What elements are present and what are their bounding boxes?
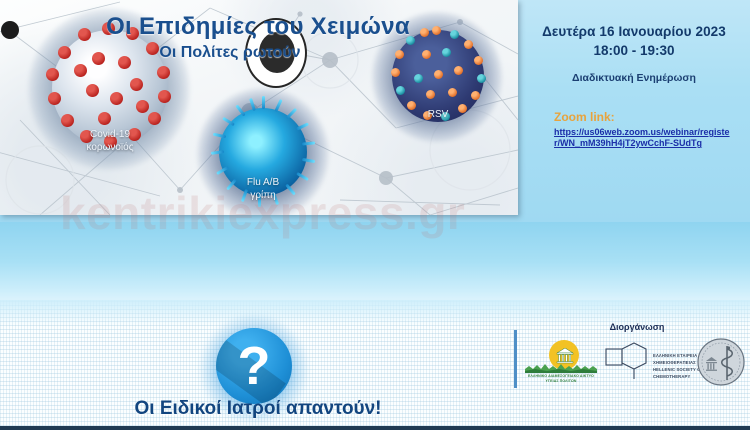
page-subtitle: Οι Πολίτες ρωτούν	[0, 44, 460, 62]
event-info-panel: Δευτέρα 16 Ιανουαρίου 2023 18:00 - 19:30…	[518, 0, 750, 222]
organizer-accent-bar	[514, 330, 517, 388]
title-band	[0, 222, 750, 310]
virus-label-flu-line1: Flu A/B	[213, 176, 313, 189]
landscape-icon	[525, 362, 597, 373]
question-mark-badge: ?	[216, 328, 292, 404]
event-format: Διαδικτυακή Ενημέρωση	[528, 72, 740, 84]
question-mark-icon: ?	[216, 328, 292, 404]
hellenic-mediterranean-diet-network-logo-text: ΕΛΛΗΝΙΚΟ ΔΙΑΜΕΣΟΓΕΙΑΚΟ ΔΙΚΤΥΟ ΥΓΕΙΑΣ ΠΟΛ…	[525, 374, 597, 384]
zoom-registration-link[interactable]: https://us06web.zoom.us/webinar/register…	[528, 127, 740, 149]
hellenic-mediterranean-diet-network-logo: ΕΛΛΗΝΙΚΟ ΔΙΑΜΕΣΟΓΕΙΑΚΟ ΔΙΚΤΥΟ ΥΓΕΙΑΣ ΠΟΛ…	[525, 338, 597, 388]
virus-label-rsv-line1: RSV	[382, 108, 494, 121]
zoom-link-label: Zoom link:	[528, 110, 740, 124]
virus-label-covid: Covid-19 κορωνοϊός	[52, 128, 168, 154]
bottom-rule	[0, 426, 750, 430]
virus-label-flu-line2: γρίπη	[213, 189, 313, 202]
asclepius-seal-logo	[697, 336, 745, 388]
virus-label-rsv: RSV	[382, 108, 494, 121]
page-title: Οι Επιδημίες του Χειμώνα	[0, 13, 516, 41]
page-closing-title: Οι Ειδικοί Ιατροί απαντούν!	[0, 398, 516, 420]
virus-label-flu: Flu A/B γρίπη	[213, 176, 313, 202]
organizer-block: Διοργάνωση ΕΛΛΗΝΙΚΟ ΔΙΑΜΕΣΟΓΕΙΑΚΟ ΔΙΚΤΥΟ…	[505, 322, 745, 394]
molecule-icon	[605, 340, 651, 382]
webinar-poster: Covid-19 κορωνοϊός Flu A/B γρίπη RSV Δευ…	[0, 0, 750, 430]
event-date: Δευτέρα 16 Ιανουαρίου 2023	[528, 22, 740, 41]
virus-label-covid-line2: κορωνοϊός	[52, 141, 168, 154]
zoom-link-block: Zoom link: https://us06web.zoom.us/webin…	[528, 110, 740, 149]
organizer-label: Διοργάνωση	[567, 322, 707, 332]
virus-label-covid-line1: Covid-19	[52, 128, 168, 141]
event-time: 18:00 - 19:30	[528, 41, 740, 60]
